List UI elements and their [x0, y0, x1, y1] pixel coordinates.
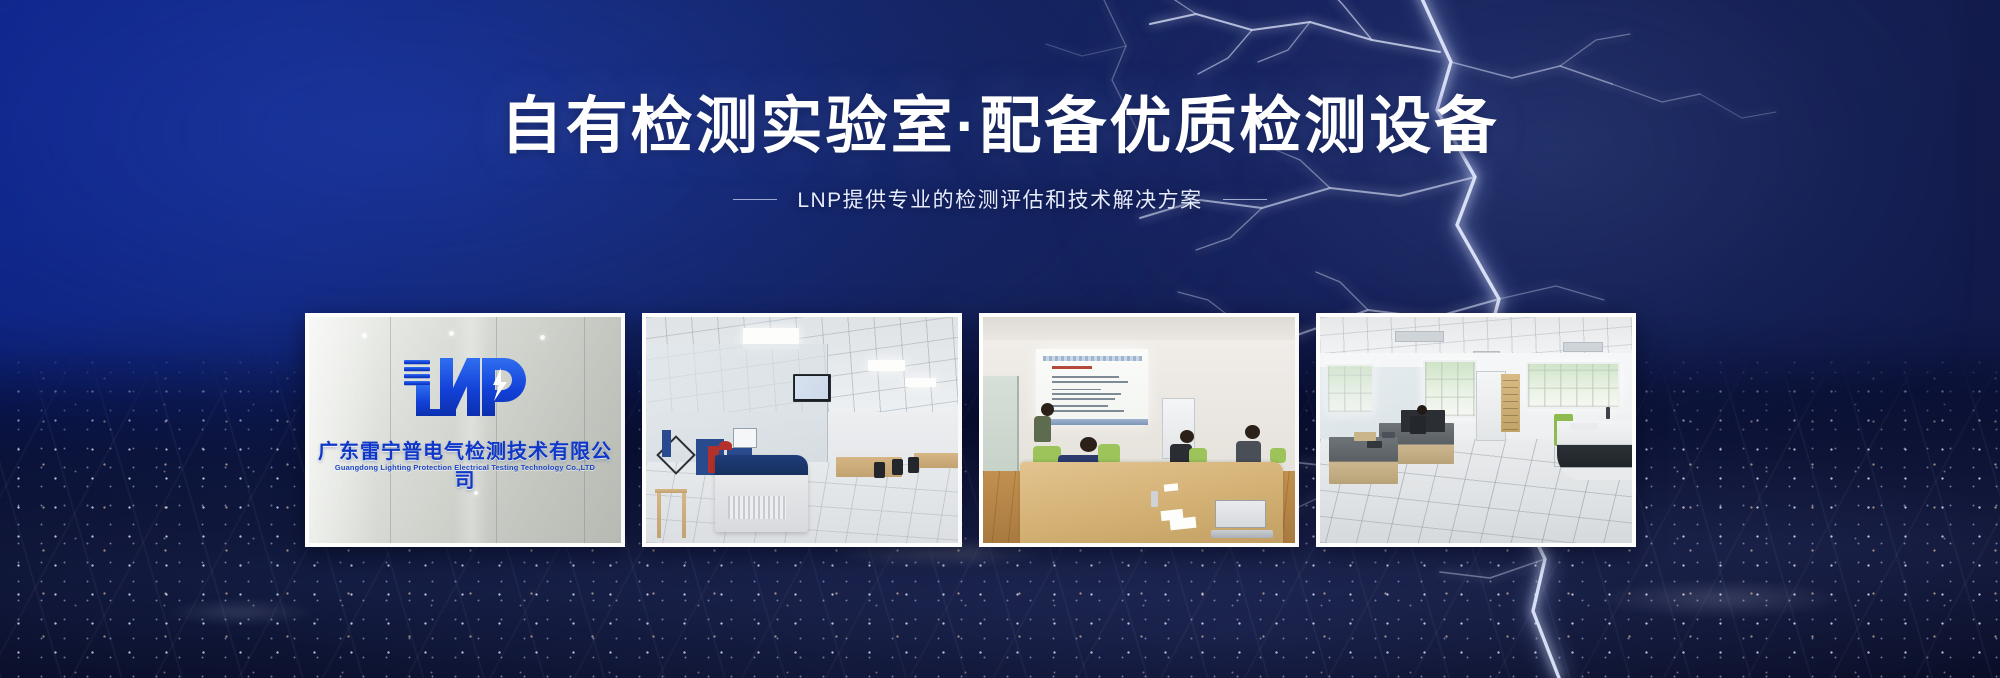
gallery-card-high-voltage-laboratory[interactable]	[642, 313, 962, 547]
gallery-card-office-area[interactable]	[1316, 313, 1636, 547]
person-head	[1417, 405, 1427, 415]
slide-taskbar	[1036, 419, 1148, 426]
lnp-logo-icon	[402, 354, 528, 416]
divider-dash-right	[1223, 199, 1267, 200]
slide-text-line	[1052, 381, 1128, 383]
photo-high-voltage-laboratory	[646, 317, 958, 543]
slide-text-line	[1052, 410, 1124, 412]
laptop-screen	[1215, 500, 1267, 528]
photo-office-area	[1320, 317, 1632, 543]
office-chair	[874, 462, 885, 478]
meeting-chair-back	[1270, 448, 1286, 463]
wall-monitor	[793, 374, 831, 402]
hero-banner: 自有检测实验室·配备优质检测设备 LNP提供专业的检测评估和技术解决方案	[0, 0, 2000, 678]
wall-spotlight	[540, 335, 545, 340]
water-bottle	[1151, 491, 1158, 507]
subtitle-row: LNP提供专业的检测评估和技术解决方案	[0, 184, 2000, 214]
person-head	[1041, 403, 1054, 416]
page-title: 自有检测实验室·配备优质检测设备	[0, 96, 2000, 158]
person-head	[1080, 437, 1097, 452]
slide-text-line	[1052, 393, 1122, 395]
meeting-chair-back	[1098, 444, 1120, 464]
laptop-keyboard	[1211, 530, 1273, 538]
ceiling-vent	[1563, 342, 1602, 352]
wall-seam	[496, 317, 497, 543]
person-seated	[1410, 416, 1426, 434]
test-equipment-post	[662, 430, 671, 457]
person-attendee	[1236, 441, 1261, 463]
slide-text-line	[1052, 376, 1119, 378]
work-desk	[914, 453, 958, 469]
gallery-card-company-logo-wall[interactable]: 广东雷宁普电气检测技术有限公司 Guangdong Lighting Prote…	[305, 313, 625, 547]
gallery-card-training-meeting-room[interactable]	[979, 313, 1299, 547]
wall-seam	[390, 317, 391, 543]
test-equipment-cap	[719, 441, 731, 450]
ceiling-vent	[1395, 331, 1444, 342]
photo-training-meeting-room	[983, 317, 1295, 543]
wall-seam	[584, 317, 585, 543]
office-chair	[908, 457, 919, 473]
desk-item	[1367, 441, 1383, 448]
slide-title	[1052, 366, 1092, 370]
desk-item	[1570, 423, 1598, 430]
hero-text-block: 自有检测实验室·配备优质检测设备 LNP提供专业的检测评估和技术解决方案	[0, 96, 2000, 214]
person-presenter	[1034, 416, 1051, 442]
photo-gallery: 广东雷宁普电气检测技术有限公司 Guangdong Lighting Prote…	[305, 313, 1636, 547]
laptop	[1211, 500, 1273, 538]
document-paper	[1164, 483, 1179, 491]
ceiling-light	[868, 360, 905, 371]
divider-dash-left	[733, 199, 777, 200]
window	[1326, 364, 1374, 413]
window	[1526, 362, 1620, 409]
office-chair	[892, 459, 903, 475]
desk-item	[1606, 407, 1610, 419]
desk-item	[1382, 432, 1394, 438]
logo-company-name-en: Guangdong Lighting Protection Electrical…	[309, 463, 621, 472]
person-head	[1180, 430, 1194, 443]
slide-header-bar	[1043, 356, 1142, 361]
slide-text-line	[1052, 389, 1101, 391]
projection-screen	[1036, 349, 1148, 426]
control-console	[715, 455, 809, 532]
wall-sheen	[309, 317, 621, 543]
bookshelf	[1501, 374, 1520, 433]
wall-spotlight	[362, 333, 367, 338]
slide-text-line	[1052, 405, 1108, 407]
photo-company-logo-wall: 广东雷宁普电气检测技术有限公司 Guangdong Lighting Prote…	[309, 317, 621, 543]
sample-stand-leg	[682, 493, 686, 538]
sample-stand-leg	[657, 493, 661, 538]
work-desk	[1329, 437, 1398, 484]
slide-text-line	[1052, 398, 1115, 400]
page-subtitle: LNP提供专业的检测评估和技术解决方案	[797, 184, 1202, 214]
desk-item	[1354, 432, 1376, 441]
ceiling-light	[905, 378, 936, 387]
console-monitor	[733, 428, 757, 448]
